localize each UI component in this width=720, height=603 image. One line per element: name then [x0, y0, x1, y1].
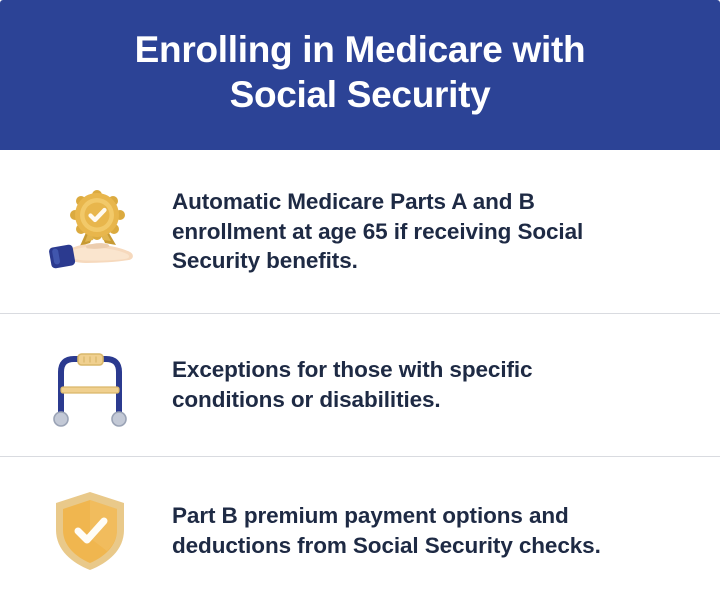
row-3-text-cell: Part B premium payment options and deduc…	[150, 501, 676, 560]
row-3-icon-cell	[30, 476, 150, 586]
hand-holding-award-badge-icon	[38, 184, 142, 280]
row-1-line-2: enrollment at age 65 if receiving Social	[172, 217, 672, 247]
row-1-icon-cell	[30, 177, 150, 287]
list-item: Part B premium payment options and deduc…	[0, 457, 720, 603]
header-banner: Enrolling in Medicare with Social Securi…	[0, 0, 720, 150]
row-3-line-2: deductions from Social Security checks.	[172, 531, 672, 561]
content-list: Automatic Medicare Parts A and B enrollm…	[0, 150, 720, 603]
row-1-line-3: Security benefits.	[172, 246, 672, 276]
row-2-icon-cell	[30, 330, 150, 440]
row-1-text-cell: Automatic Medicare Parts A and B enrollm…	[150, 187, 676, 276]
page-title-line-2: Social Security	[60, 72, 660, 117]
row-2-line-1: Exceptions for those with specific	[172, 355, 672, 385]
row-2-text-cell: Exceptions for those with specific condi…	[150, 355, 676, 414]
page-title-line-1: Enrolling in Medicare with	[60, 27, 660, 72]
list-item: Automatic Medicare Parts A and B enrollm…	[0, 150, 720, 313]
list-item: Exceptions for those with specific condi…	[0, 314, 720, 456]
list-item-text: Part B premium payment options and deduc…	[172, 501, 672, 560]
row-3-line-1: Part B premium payment options and	[172, 501, 672, 531]
walker-mobility-aid-icon	[47, 342, 133, 428]
page-title: Enrolling in Medicare with Social Securi…	[60, 27, 660, 117]
infographic-card: Enrolling in Medicare with Social Securi…	[0, 0, 720, 603]
list-item-text: Exceptions for those with specific condi…	[172, 355, 672, 414]
row-2-line-2: conditions or disabilities.	[172, 385, 672, 415]
list-item-text: Automatic Medicare Parts A and B enrollm…	[172, 187, 672, 276]
shield-check-icon	[50, 488, 130, 574]
row-1-line-1: Automatic Medicare Parts A and B	[172, 187, 672, 217]
